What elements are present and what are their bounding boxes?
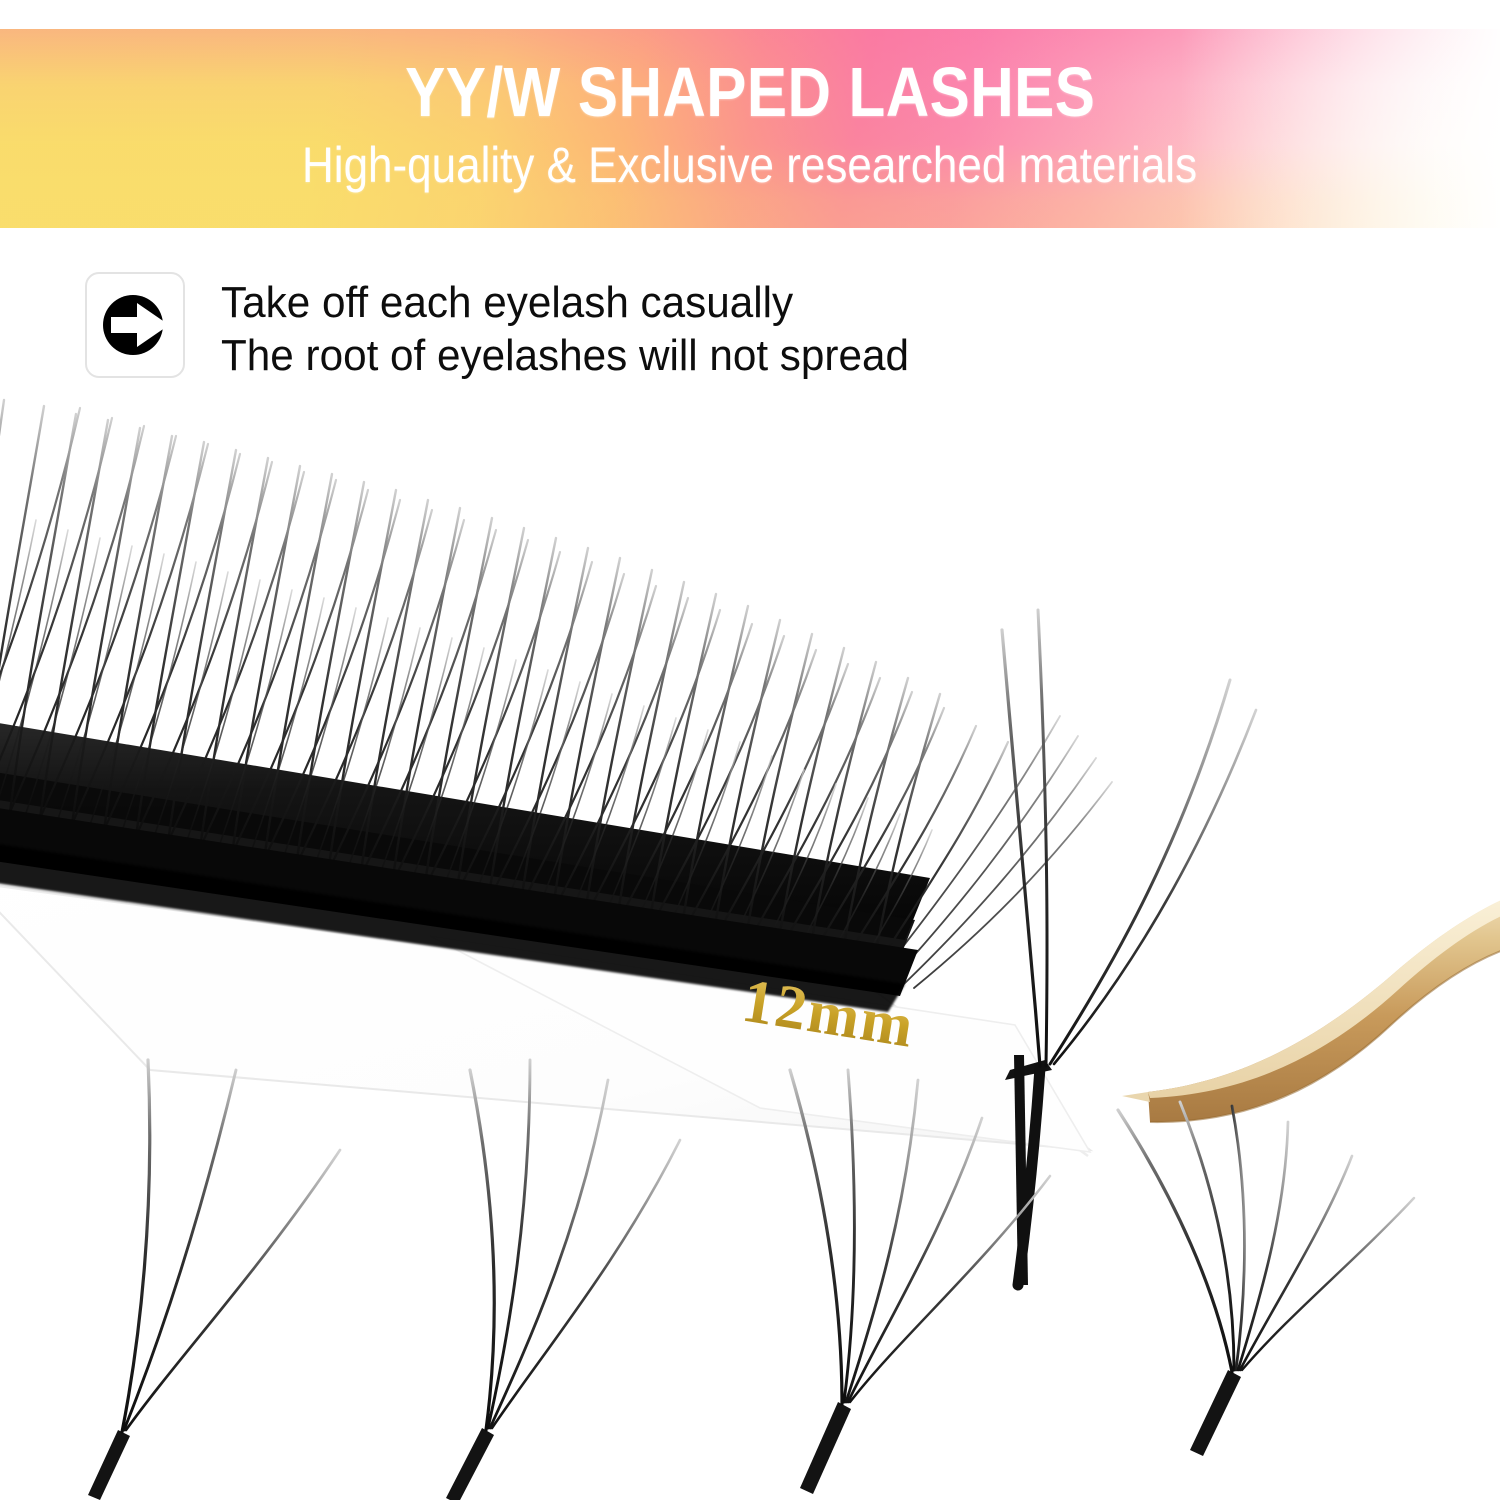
instruction-text-block: Take off each eyelash casually The root … — [221, 276, 938, 382]
banner-subtitle: High-quality & Exclusive researched mate… — [302, 137, 1197, 193]
instruction-line-2: The root of eyelashes will not spread — [221, 329, 909, 382]
product-photo: 12mm — [0, 380, 1500, 1500]
instruction-line-1: Take off each eyelash casually — [221, 276, 909, 329]
arrow-right-circle-icon — [97, 287, 173, 363]
banner-title: YY/W SHAPED LASHES — [405, 55, 1095, 129]
header-banner: YY/W SHAPED LASHES High-quality & Exclus… — [0, 29, 1500, 228]
instruction-row: Take off each eyelash casually The root … — [85, 272, 938, 382]
arrow-badge — [85, 272, 185, 378]
